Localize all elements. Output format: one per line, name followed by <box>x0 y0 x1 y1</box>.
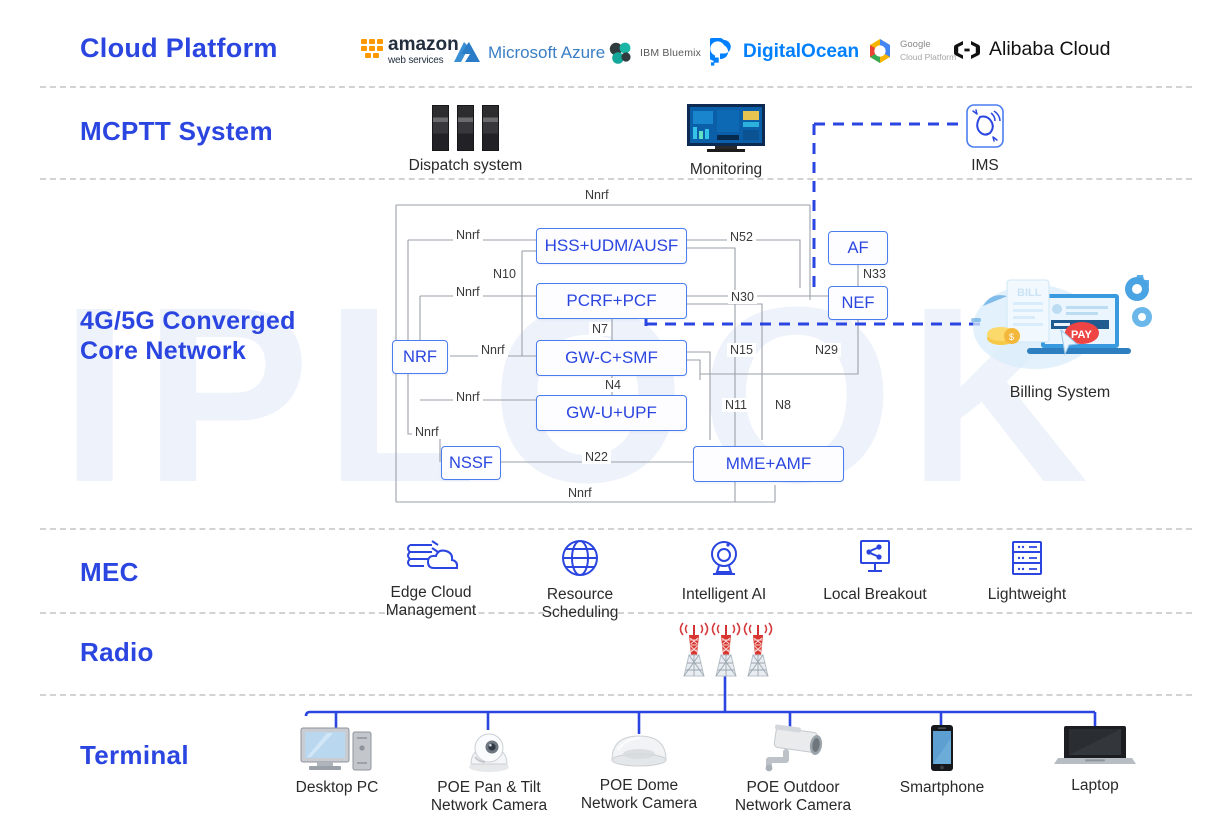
logo-microsoft-azure[interactable]: Microsoft Azure <box>452 40 605 66</box>
node-resource-scheduling[interactable]: Resource Scheduling <box>528 538 632 622</box>
svg-text:$: $ <box>1009 332 1014 342</box>
bluemix-logo-text: IBM Bluemix <box>640 47 701 59</box>
antenna-tower-icon <box>708 622 744 680</box>
azure-logo-text: Microsoft Azure <box>488 43 605 63</box>
svg-text:BILL: BILL <box>1017 287 1042 299</box>
if-label-nnrf-hss: Nnrf <box>453 228 483 242</box>
node-ims[interactable]: IMS <box>951 104 1019 175</box>
smartphone-icon <box>893 724 991 777</box>
outdoor-camera-line-1: POE Outdoor <box>728 779 858 797</box>
nf-box-mme-amf[interactable]: MME+AMF <box>693 446 844 482</box>
row-title-mcptt-system: MCPTT System <box>80 116 273 147</box>
cloud-server-icon <box>370 538 492 581</box>
node-radio-tower-2[interactable] <box>708 622 744 685</box>
node-dispatch-system[interactable]: Dispatch system <box>398 105 533 175</box>
camera-ai-icon <box>665 538 783 583</box>
logo-digitalocean[interactable]: DigitalOcean <box>710 38 859 66</box>
edge-cloud-line-2: Management <box>370 602 492 620</box>
nf-box-gw-u-upf[interactable]: GW-U+UPF <box>536 395 687 431</box>
node-intelligent-ai[interactable]: Intelligent AI <box>665 538 783 604</box>
aws-icon <box>358 34 392 68</box>
nf-box-hss-udm-ausf[interactable]: HSS+UDM/AUSF <box>536 228 687 264</box>
dispatch-system-label: Dispatch system <box>398 157 533 175</box>
share-monitor-icon <box>815 538 935 583</box>
server-racks-icon <box>398 105 533 153</box>
node-poe-outdoor-camera[interactable]: POE Outdoor Network Camera <box>728 722 858 815</box>
laptop-icon <box>1040 722 1150 775</box>
azure-icon <box>452 40 482 66</box>
node-smartphone[interactable]: Smartphone <box>893 724 991 797</box>
bluemix-icon <box>607 40 635 66</box>
row-title-cloud-platform: Cloud Platform <box>80 33 278 65</box>
row-title-radio: Radio <box>80 637 154 668</box>
monitoring-label: Monitoring <box>671 161 781 179</box>
if-label-n30: N30 <box>728 290 757 304</box>
if-label-n4: N4 <box>602 378 624 392</box>
node-monitoring[interactable]: Monitoring <box>671 104 781 179</box>
node-radio-tower-1[interactable] <box>676 622 712 685</box>
row-title-core-network: 4G/5G Converged Core Network <box>80 307 296 366</box>
resource-scheduling-line-1: Resource <box>528 586 632 604</box>
outdoor-camera-line-2: Network Camera <box>728 797 858 815</box>
core-title-line-1: 4G/5G Converged <box>80 307 296 337</box>
billing-system-label: Billing System <box>960 384 1160 402</box>
if-label-nnrf-smf: Nnrf <box>478 343 508 357</box>
node-desktop-pc[interactable]: Desktop PC <box>278 726 396 797</box>
billing-illustration-icon: BILL $ PAY <box>960 272 1160 382</box>
server-rack-icon <box>968 538 1086 583</box>
dome-camera-line-1: POE Dome <box>578 777 700 795</box>
antenna-tower-icon <box>740 622 776 680</box>
row-title-mec: MEC <box>80 557 139 588</box>
digitalocean-icon <box>710 38 738 66</box>
node-edge-cloud-management[interactable]: Edge Cloud Management <box>370 538 492 620</box>
core-title-line-2: Core Network <box>80 337 296 367</box>
dome-camera-icon <box>578 728 700 775</box>
node-poe-pan-tilt-camera[interactable]: POE Pan & Tilt Network Camera <box>424 724 554 815</box>
architecture-diagram: IPLOOK Cloud Platform MCPTT System 4G/5G… <box>0 0 1228 833</box>
if-label-n22: N22 <box>582 450 611 464</box>
if-label-n29: N29 <box>812 343 841 357</box>
if-label-nnrf-bottom: Nnrf <box>565 486 595 500</box>
desktop-pc-label: Desktop PC <box>278 779 396 797</box>
smartphone-label: Smartphone <box>893 779 991 797</box>
node-laptop[interactable]: Laptop <box>1040 722 1150 795</box>
nf-box-af[interactable]: AF <box>828 231 888 265</box>
laptop-label: Laptop <box>1040 777 1150 795</box>
if-label-nnrf-top: Nnrf <box>582 188 612 202</box>
edge-cloud-line-1: Edge Cloud <box>370 584 492 602</box>
nf-box-nef[interactable]: NEF <box>828 286 888 320</box>
nf-box-pcrf-pcf[interactable]: PCRF+PCF <box>536 283 687 319</box>
svg-text:PAY: PAY <box>1071 329 1092 341</box>
logo-google-cloud-platform[interactable]: Google Cloud Platform <box>865 36 956 66</box>
resource-scheduling-line-2: Scheduling <box>528 604 632 622</box>
pan-tilt-camera-line-1: POE Pan & Tilt <box>424 779 554 797</box>
node-poe-dome-camera[interactable]: POE Dome Network Camera <box>578 728 700 813</box>
logo-alibaba-cloud[interactable]: Alibaba Cloud <box>952 38 1110 61</box>
dome-camera-line-2: Network Camera <box>578 795 700 813</box>
if-label-n7: N7 <box>589 322 611 336</box>
if-label-nnrf-pcrf: Nnrf <box>453 285 483 299</box>
aws-logo-text: amazon web services <box>388 35 459 67</box>
gcp-logo-text: Google Cloud Platform <box>900 38 956 63</box>
alibaba-logo-text: Alibaba Cloud <box>989 38 1110 61</box>
node-local-breakout[interactable]: Local Breakout <box>815 538 935 604</box>
if-label-n52: N52 <box>727 230 756 244</box>
node-billing-system[interactable]: BILL $ PAY <box>960 272 1160 402</box>
node-radio-tower-3[interactable] <box>740 622 776 685</box>
globe-icon <box>528 538 632 583</box>
nf-box-gw-c-smf[interactable]: GW-C+SMF <box>536 340 687 376</box>
logo-ibm-bluemix[interactable]: IBM Bluemix <box>607 40 701 66</box>
if-label-n8: N8 <box>772 398 794 412</box>
alibaba-cloud-icon <box>952 39 982 61</box>
antenna-tower-icon <box>676 622 712 680</box>
desktop-pc-icon <box>278 726 396 777</box>
if-label-nnrf-upf: Nnrf <box>453 390 483 404</box>
digitalocean-logo-text: DigitalOcean <box>743 41 859 63</box>
lightweight-label: Lightweight <box>968 586 1086 604</box>
outdoor-camera-icon <box>728 722 858 777</box>
phone-handset-icon <box>951 104 1019 155</box>
gcp-icon <box>865 36 895 66</box>
node-lightweight[interactable]: Lightweight <box>968 538 1086 604</box>
ims-label: IMS <box>951 157 1019 175</box>
row-title-terminal: Terminal <box>80 740 189 771</box>
intelligent-ai-label: Intelligent AI <box>665 586 783 604</box>
if-label-n15: N15 <box>727 343 756 357</box>
if-label-n33: N33 <box>860 267 889 281</box>
nf-box-nssf[interactable]: NSSF <box>441 446 501 480</box>
nf-box-nrf[interactable]: NRF <box>392 340 448 374</box>
logo-amazon-web-services[interactable]: amazon web services <box>358 34 459 68</box>
pan-tilt-camera-line-2: Network Camera <box>424 797 554 815</box>
pan-tilt-camera-icon <box>424 724 554 777</box>
if-label-n10: N10 <box>490 267 519 281</box>
if-label-n11: N11 <box>722 398 750 412</box>
local-breakout-label: Local Breakout <box>815 586 935 604</box>
monitor-screen-icon <box>671 104 781 157</box>
if-label-nnrf-nssf: Nnrf <box>412 425 442 439</box>
